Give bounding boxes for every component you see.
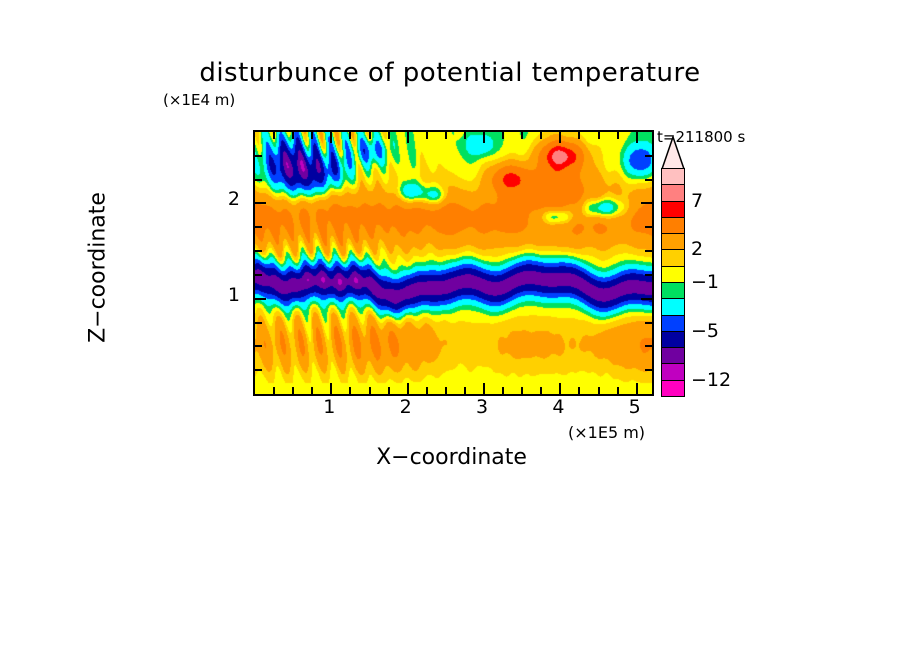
y-tick-minor	[255, 322, 262, 324]
x-tick-top-minor	[292, 132, 294, 139]
y-tick-right-minor	[645, 179, 652, 181]
x-tick-minor	[349, 387, 351, 394]
x-tick-major	[407, 383, 409, 394]
y-tick-right-minor	[645, 369, 652, 371]
colorbar-swatch-orange	[661, 217, 685, 235]
figure-canvas: disturbunce of potential temperature (×1…	[0, 0, 904, 654]
x-tick-major	[636, 383, 638, 394]
y-axis-unit-label: (×1E4 m)	[163, 91, 235, 109]
colorbar-swatch-magenta	[661, 380, 685, 398]
colorbar: 72−1−5−12	[661, 168, 685, 396]
chart-title-text: disturbunce of potential temperature	[199, 58, 700, 88]
colorbar-swatch-amber	[661, 233, 685, 251]
y-tick-minor	[255, 369, 262, 371]
x-tick-top-minor	[617, 132, 619, 139]
x-tick-top-minor	[311, 132, 313, 139]
x-tick-top-minor	[540, 132, 542, 139]
x-tick-top-minor	[521, 132, 523, 139]
colorbar-swatch-blue	[661, 315, 685, 333]
colorbar-tick-label: −5	[691, 320, 719, 342]
colorbar-tick-label: −1	[691, 271, 719, 293]
x-tick-top-minor	[388, 132, 390, 139]
colorbar-swatch-green	[661, 282, 685, 300]
x-tick-minor	[598, 387, 600, 394]
x-tick-top-major	[407, 132, 409, 143]
x-tick-top-major	[330, 132, 332, 143]
contour-field	[255, 132, 652, 394]
colorbar-swatch-salmon	[661, 184, 685, 202]
x-axis-unit-label: (×1E5 m)	[568, 423, 645, 442]
colorbar-tick-label: 7	[691, 190, 703, 212]
x-tick-label: 5	[615, 396, 655, 418]
y-tick-right-minor	[645, 226, 652, 228]
x-tick-minor	[369, 387, 371, 394]
y-tick-minor	[255, 345, 262, 347]
colorbar-swatch-magenta-purple	[661, 363, 685, 381]
colorbar-tick-label: 2	[691, 238, 703, 260]
y-tick-minor	[255, 226, 262, 228]
y-tick-minor	[255, 250, 262, 252]
colorbar-extend-arrow	[661, 136, 685, 170]
y-tick-major	[255, 202, 266, 204]
x-tick-minor	[292, 387, 294, 394]
x-tick-minor	[540, 387, 542, 394]
x-tick-top-minor	[273, 132, 275, 139]
x-tick-label: 3	[462, 396, 502, 418]
x-tick-minor	[273, 387, 275, 394]
x-tick-minor	[426, 387, 428, 394]
colorbar-swatch-red	[661, 201, 685, 219]
x-tick-top-minor	[598, 132, 600, 139]
y-tick-right-minor	[645, 322, 652, 324]
x-axis-title: X−coordinate	[253, 445, 650, 470]
x-tick-top-major	[559, 132, 561, 143]
colorbar-swatch-yellow	[661, 266, 685, 284]
y-tick-major	[255, 298, 266, 300]
contour-plot-area	[253, 130, 654, 396]
x-tick-top-minor	[464, 132, 466, 139]
y-tick-minor	[255, 155, 262, 157]
y-tick-right-major	[641, 202, 652, 204]
y-tick-minor	[255, 274, 262, 276]
y-tick-right-minor	[645, 155, 652, 157]
x-tick-minor	[578, 387, 580, 394]
x-tick-top-minor	[578, 132, 580, 139]
y-tick-label: 2	[216, 188, 240, 210]
x-tick-top-major	[636, 132, 638, 143]
y-tick-label: 1	[216, 284, 240, 306]
y-tick-right-minor	[645, 274, 652, 276]
x-tick-minor	[617, 387, 619, 394]
x-tick-top-major	[483, 132, 485, 143]
x-tick-minor	[388, 387, 390, 394]
x-tick-minor	[445, 387, 447, 394]
x-tick-major	[559, 383, 561, 394]
x-tick-minor	[311, 387, 313, 394]
x-tick-top-minor	[502, 132, 504, 139]
colorbar-swatch-purple	[661, 347, 685, 365]
y-tick-right-major	[641, 298, 652, 300]
x-tick-minor	[502, 387, 504, 394]
x-tick-top-minor	[369, 132, 371, 139]
x-tick-minor	[521, 387, 523, 394]
colorbar-swatch-light-pink	[661, 168, 685, 186]
x-tick-label: 4	[538, 396, 578, 418]
colorbar-swatch-cyan	[661, 298, 685, 316]
y-tick-right-minor	[645, 250, 652, 252]
y-tick-minor	[255, 179, 262, 181]
x-tick-major	[330, 383, 332, 394]
x-tick-major	[483, 383, 485, 394]
colorbar-swatch-gold	[661, 249, 685, 267]
x-tick-top-minor	[445, 132, 447, 139]
y-axis-title: Z−coordinate	[86, 158, 111, 378]
colorbar-tick-label: −12	[691, 369, 731, 391]
y-tick-right-minor	[645, 345, 652, 347]
x-tick-label: 1	[309, 396, 349, 418]
x-tick-minor	[464, 387, 466, 394]
x-tick-label: 2	[386, 396, 426, 418]
x-tick-top-minor	[349, 132, 351, 139]
chart-title: disturbunce of potential temperature	[0, 58, 904, 88]
x-tick-top-minor	[426, 132, 428, 139]
colorbar-swatch-navy	[661, 331, 685, 349]
